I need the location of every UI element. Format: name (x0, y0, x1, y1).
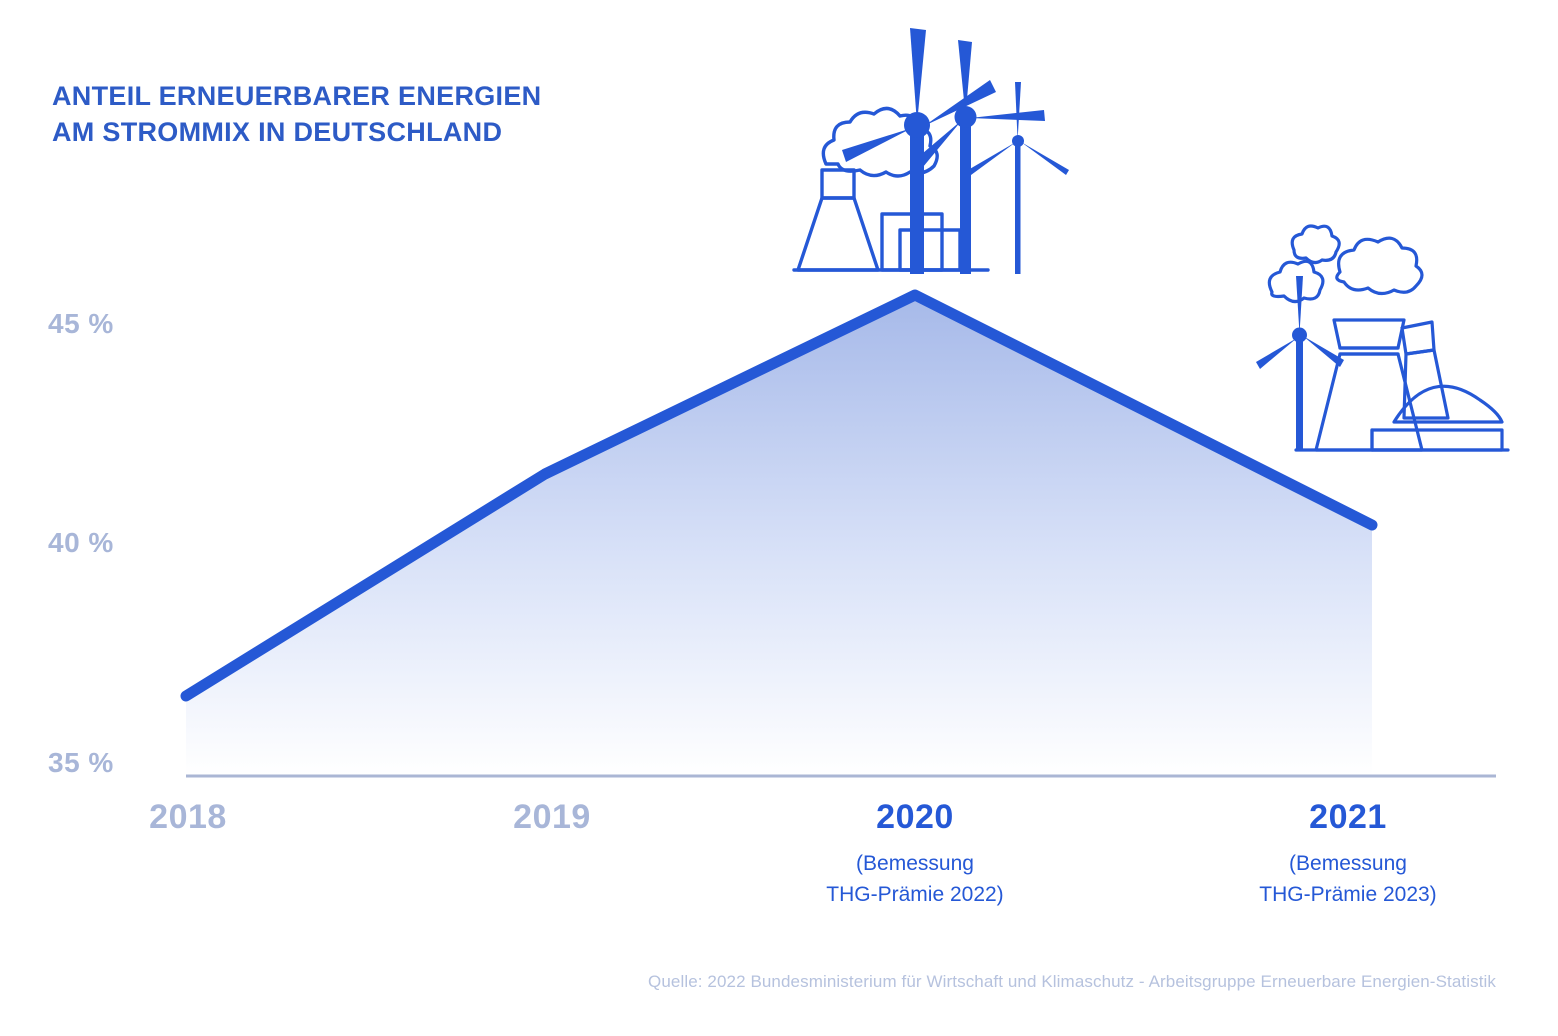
y-axis-tick-45: 45 % (48, 308, 168, 340)
power-plant-with-wind-turbines-illustration (782, 22, 1078, 292)
x-axis-tick-2021-year: 2021 (1208, 798, 1488, 837)
y-axis-tick-40: 40 % (48, 527, 168, 559)
x-axis-tick-2020-sublabel: (Bemessung THG-Prämie 2022) (775, 849, 1055, 910)
chart-page: Anteil erneuerbarer Energien am Strommix… (0, 0, 1558, 1036)
x-axis-tick-2021: 2021 (Bemessung THG-Prämie 2023) (1208, 798, 1488, 910)
x-axis-tick-2018-year: 2018 (48, 798, 328, 837)
area-fill (186, 295, 1372, 776)
x-axis-tick-2019: 2019 (412, 798, 692, 849)
y-axis-tick-35: 35 % (48, 747, 168, 779)
x-axis-tick-2020-year: 2020 (775, 798, 1055, 837)
nuclear-plant-with-wind-turbine-illustration (1252, 222, 1520, 464)
x-axis-tick-2019-year: 2019 (412, 798, 692, 837)
x-axis-tick-2020: 2020 (Bemessung THG-Prämie 2022) (775, 798, 1055, 910)
x-axis-tick-2021-sublabel: (Bemessung THG-Prämie 2023) (1208, 849, 1488, 910)
source-note: Quelle: 2022 Bundesministerium für Wirts… (0, 972, 1496, 992)
x-axis-tick-2018: 2018 (48, 798, 328, 849)
